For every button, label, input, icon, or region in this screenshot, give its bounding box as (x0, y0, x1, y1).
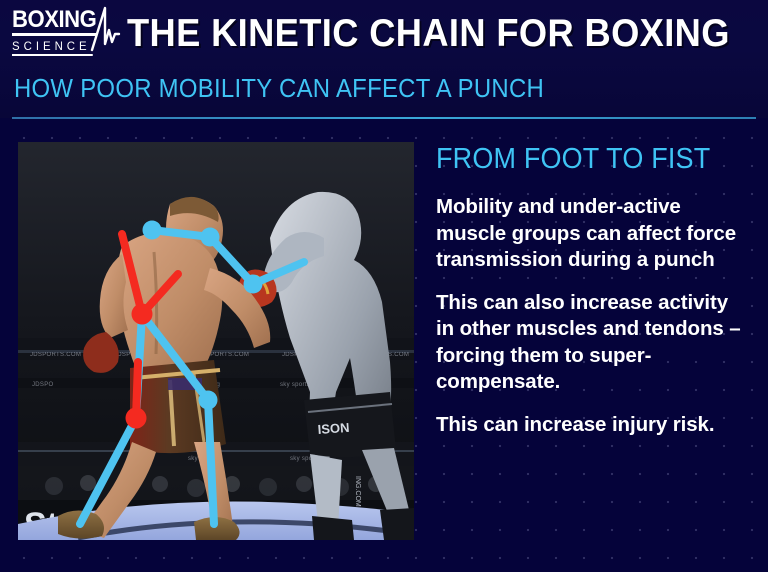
panel-paragraph-2: This can also increase activity in other… (436, 290, 750, 396)
svg-text:ISON: ISON (317, 420, 350, 437)
header-bar: BOXING SCIENCE THE KINETIC CHAIN FOR BOX… (0, 0, 768, 118)
panel-heading: FROM FOOT TO FIST (436, 142, 728, 176)
page-subtitle: HOW POOR MOBILITY CAN AFFECT A PUNCH (14, 73, 544, 103)
boxing-match-photo: JDSPORTS.COM JDSPORTS.COM JDSPORTS.COM J… (18, 142, 414, 540)
svg-text:ING.COM: ING.COM (354, 476, 361, 507)
brand-logo-word: BOXING (12, 8, 96, 36)
brand-logo-subword: SCIENCE (12, 40, 93, 56)
header-divider (12, 117, 756, 119)
svg-text:JDSPO: JDSPO (32, 382, 54, 388)
page-title: THE KINETIC CHAIN FOR BOXING (127, 12, 730, 56)
heartbeat-icon (88, 4, 122, 62)
photo-and-kinetic-chain: JDSPORTS.COM JDSPORTS.COM JDSPORTS.COM J… (18, 142, 414, 540)
svg-text:sky sports: sky sports (280, 382, 310, 388)
panel-paragraph-3: This can increase injury risk. (436, 412, 750, 439)
knee-restriction-node (126, 408, 147, 429)
infographic-root: BOXING SCIENCE THE KINETIC CHAIN FOR BOX… (0, 0, 768, 572)
svg-text:JDSPORTS.COM: JDSPORTS.COM (30, 352, 81, 358)
text-panel: FROM FOOT TO FIST Mobility and under-act… (436, 142, 750, 542)
hip-restriction-node (132, 304, 153, 325)
panel-paragraph-1: Mobility and under-active muscle groups … (436, 194, 750, 274)
